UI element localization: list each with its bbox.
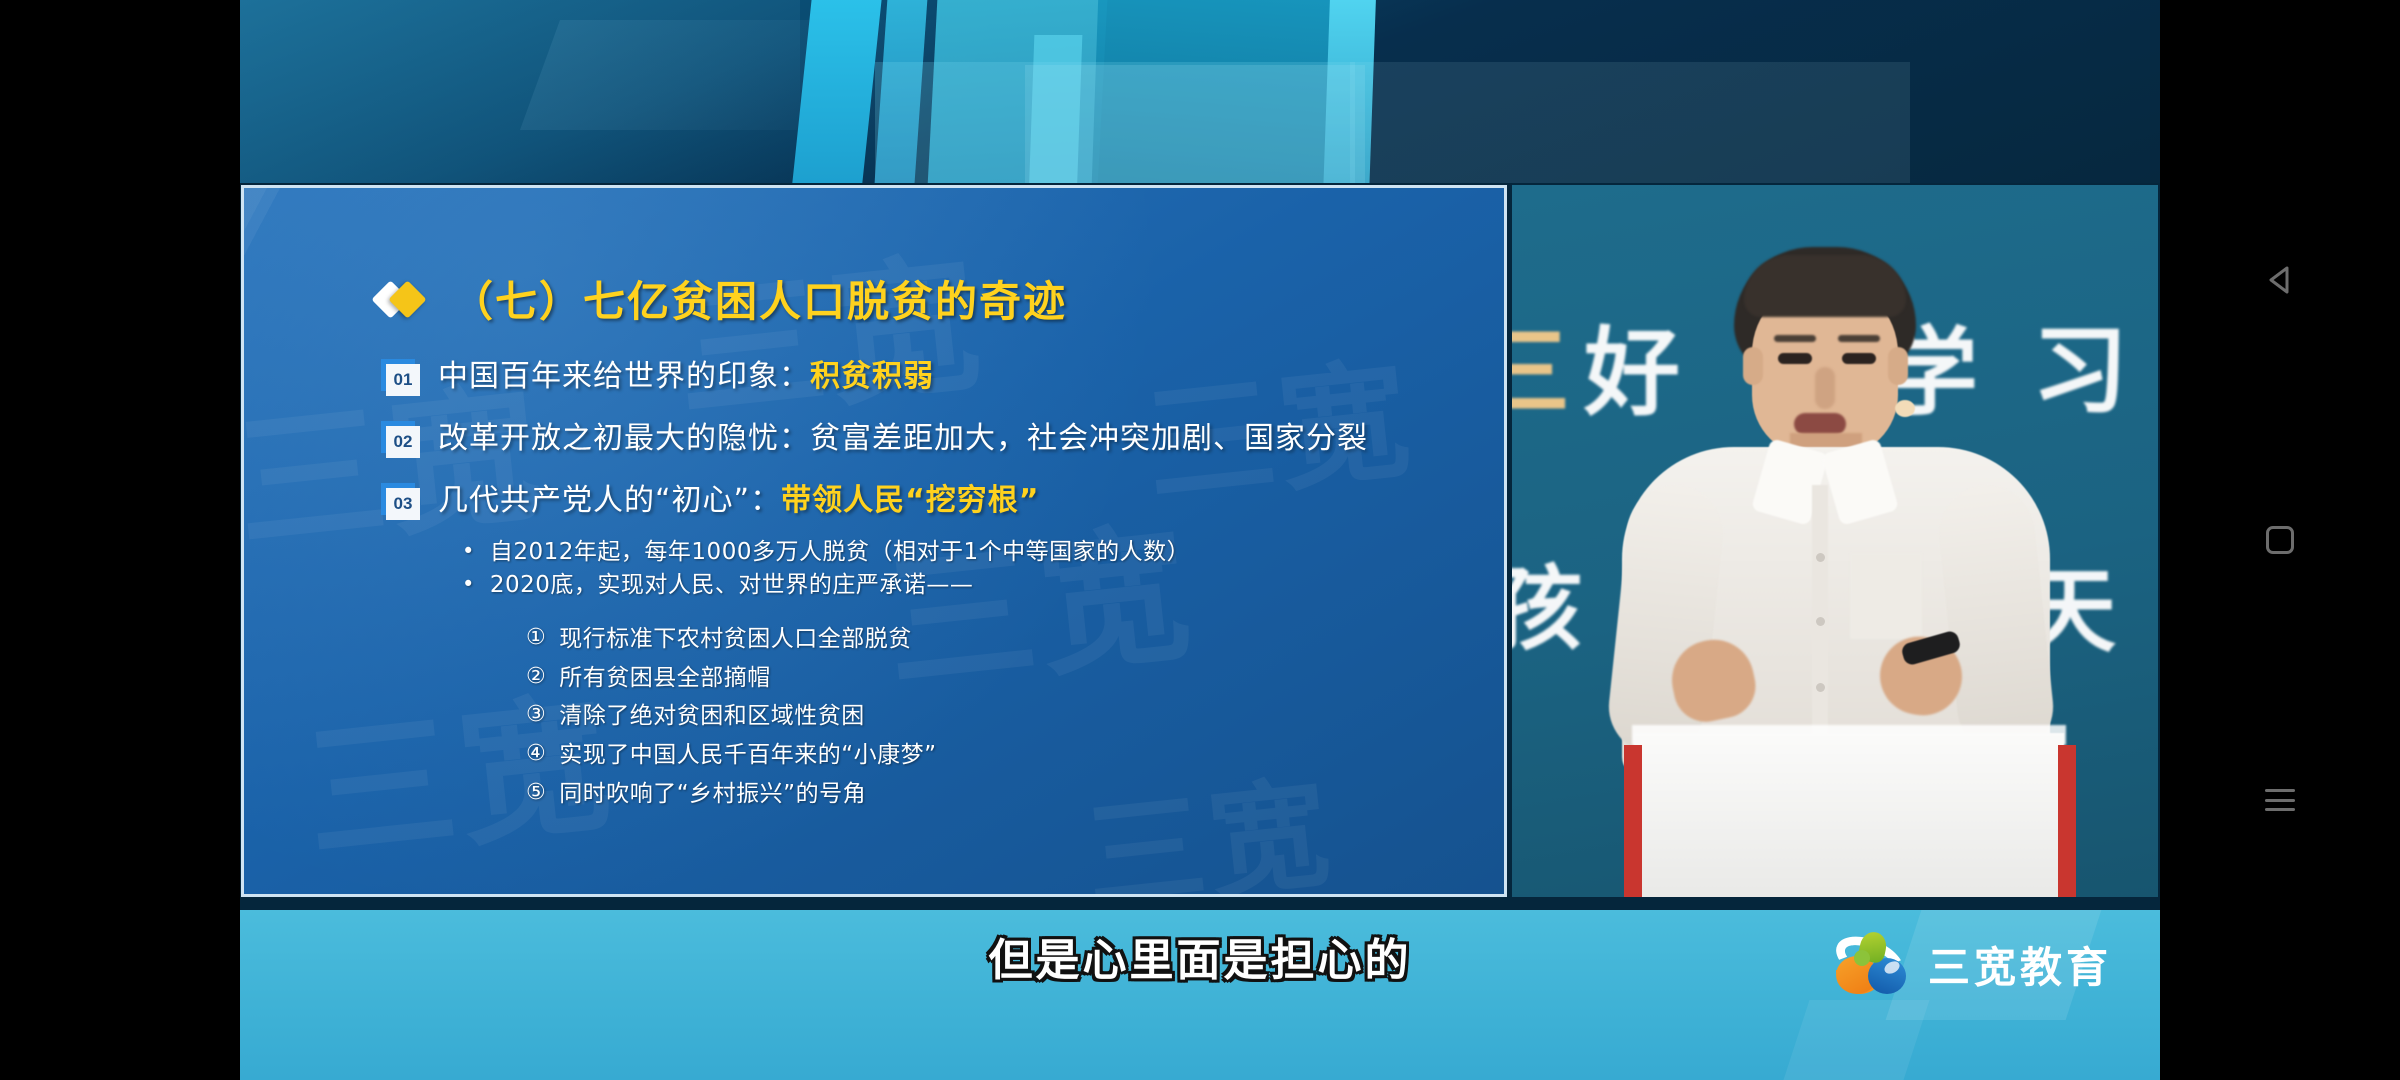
android-navigation-bar — [2160, 0, 2400, 1080]
numbered-item-text: 现行标准下农村贫困人口全部脱贫 — [559, 620, 912, 659]
presenter-eye — [1778, 353, 1812, 364]
recents-lines-icon — [2265, 789, 2295, 811]
presenter-shirt-button — [1816, 683, 1825, 692]
bottom-bar: 但是心里面是担心的 三宽教育 — [240, 910, 2160, 1080]
bullet-dot-icon: • — [462, 536, 475, 569]
sub-bullet-item: • 2020底，实现对人民、对世界的庄严承诺—— — [462, 569, 1190, 602]
screen-root: 三宽 三宽 三宽 三宽 三宽 三宽 （七）七亿贫困人口脱贫的奇迹 — [0, 0, 2400, 1080]
bullet-dot-icon: • — [462, 569, 475, 602]
numbered-item: ④ 实现了中国人民千百年来的“小康梦” — [526, 736, 937, 775]
sub-bullet-list: • 自2012年起，每年1000多万人脱贫（相对于1个中等国家的人数） • 20… — [462, 536, 1190, 601]
recents-line — [2265, 799, 2295, 802]
sub-bullet-text: 2020底，实现对人民、对世界的庄严承诺—— — [490, 569, 974, 602]
slide-row-01: 01 中国百年来给世界的印象：积贫积弱 — [386, 358, 934, 396]
recents-icon[interactable] — [2250, 770, 2310, 830]
presenter-hair-front — [1744, 255, 1906, 317]
podium-edge — [1624, 745, 1642, 897]
presenter-mouth — [1794, 413, 1846, 435]
diamond-bullet-icon — [377, 279, 429, 319]
presenter-microphone — [1895, 400, 1915, 417]
circled-number-icon: ⑤ — [526, 775, 546, 814]
presenter-shirt-button — [1816, 553, 1825, 562]
row-text-plain: 改革开放之初最大的隐忧：贫富差距加大，社会冲突加剧、国家分裂 — [438, 421, 1368, 456]
numbered-item: ③ 清除了绝对贫困和区域性贫困 — [526, 697, 937, 736]
circled-number-icon: ② — [526, 659, 546, 698]
banner-shape — [1025, 65, 1365, 183]
circled-number-icon: ③ — [526, 697, 546, 736]
numbered-item-text: 同时吹响了“乡村振兴”的号角 — [559, 775, 866, 814]
home-icon[interactable] — [2250, 510, 2310, 570]
numbered-item: ⑤ 同时吹响了“乡村振兴”的号角 — [526, 775, 937, 814]
circled-number-icon: ④ — [526, 736, 546, 775]
banner-shape — [1350, 62, 1910, 183]
slide-row-03: 03 几代共产党人的“初心”：带领人民“挖穷根” — [386, 482, 1040, 520]
row-text-highlight: 带领人民“挖穷根” — [781, 483, 1039, 518]
numbered-item: ① 现行标准下农村贫困人口全部脱贫 — [526, 620, 937, 659]
podium — [1634, 733, 2064, 897]
back-icon[interactable] — [2250, 250, 2310, 310]
numbered-item-text: 实现了中国人民千百年来的“小康梦” — [559, 736, 936, 775]
row-text-plain: 几代共产党人的“初心”： — [438, 483, 781, 518]
row-badge-01: 01 — [386, 364, 420, 396]
presenter-shirt-button — [1816, 617, 1825, 626]
slide-title-text: （七）七亿贫困人口脱贫的奇迹 — [451, 268, 1067, 329]
circled-number-icon: ① — [526, 620, 546, 659]
top-banner — [240, 0, 2160, 183]
stage-area: 三宽 三宽 三宽 三宽 三宽 三宽 （七）七亿贫困人口脱贫的奇迹 — [240, 183, 2160, 910]
slide-title: （七）七亿贫困人口脱贫的奇迹 — [377, 268, 1067, 329]
row-badge-02: 02 — [386, 426, 420, 458]
slide-row-02: 02 改革开放之初最大的隐忧：贫富差距加大，社会冲突加剧、国家分裂 — [386, 420, 1368, 458]
slide-content: （七）七亿贫困人口脱贫的奇迹 01 中国百年来给世界的印象：积贫积弱 02 改革… — [244, 188, 1504, 894]
numbered-item-text: 所有贫困县全部摘帽 — [559, 659, 771, 698]
brand-swirl-icon — [1834, 932, 1908, 996]
presenter-shirt-pocket — [1850, 553, 1922, 639]
presenter-eye — [1842, 353, 1876, 364]
row-text-highlight: 积贫积弱 — [810, 359, 934, 394]
back-triangle-icon — [2260, 260, 2300, 300]
row-badge-03: 03 — [386, 488, 420, 520]
recents-line — [2265, 789, 2295, 792]
swirl-green-dot — [1854, 950, 1870, 966]
row-text-01: 中国百年来给世界的印象：积贫积弱 — [438, 358, 934, 396]
home-square-icon — [2266, 526, 2294, 554]
presenter-ear — [1888, 347, 1908, 385]
sub-bullet-item: • 自2012年起，每年1000多万人脱贫（相对于1个中等国家的人数） — [462, 536, 1190, 569]
numbered-item-text: 清除了绝对贫困和区域性贫困 — [559, 697, 865, 736]
presenter-camera-feed: 三 好 学 习 孩 天 — [1512, 185, 2158, 897]
video-player-content[interactable]: 三宽 三宽 三宽 三宽 三宽 三宽 （七）七亿贫困人口脱贫的奇迹 — [240, 0, 2160, 1080]
brand-name-text: 三宽教育 — [1928, 934, 2112, 995]
presenter-eyebrow — [1774, 335, 1816, 342]
numbered-item-list: ① 现行标准下农村贫困人口全部脱贫 ② 所有贫困县全部摘帽 ③ 清除了绝对贫困和… — [526, 620, 937, 813]
recents-line — [2265, 808, 2295, 811]
sub-bullet-text: 自2012年起，每年1000多万人脱贫（相对于1个中等国家的人数） — [490, 536, 1190, 569]
bottom-decor-shape — [1771, 1000, 1930, 1080]
brand-logo: 三宽教育 — [1834, 932, 2112, 996]
podium-edge — [2058, 745, 2076, 897]
row-text-02: 改革开放之初最大的隐忧：贫富差距加大，社会冲突加剧、国家分裂 — [438, 420, 1368, 458]
row-text-plain: 中国百年来给世界的印象： — [438, 359, 810, 394]
numbered-item: ② 所有贫困县全部摘帽 — [526, 659, 937, 698]
presenter-figure — [1512, 185, 2158, 897]
presentation-slide: 三宽 三宽 三宽 三宽 三宽 三宽 （七）七亿贫困人口脱贫的奇迹 — [241, 185, 1507, 897]
presenter-ear — [1743, 347, 1763, 385]
presenter-nose — [1815, 367, 1835, 409]
row-text-03: 几代共产党人的“初心”：带领人民“挖穷根” — [438, 482, 1040, 520]
presenter-eyebrow — [1838, 335, 1880, 342]
